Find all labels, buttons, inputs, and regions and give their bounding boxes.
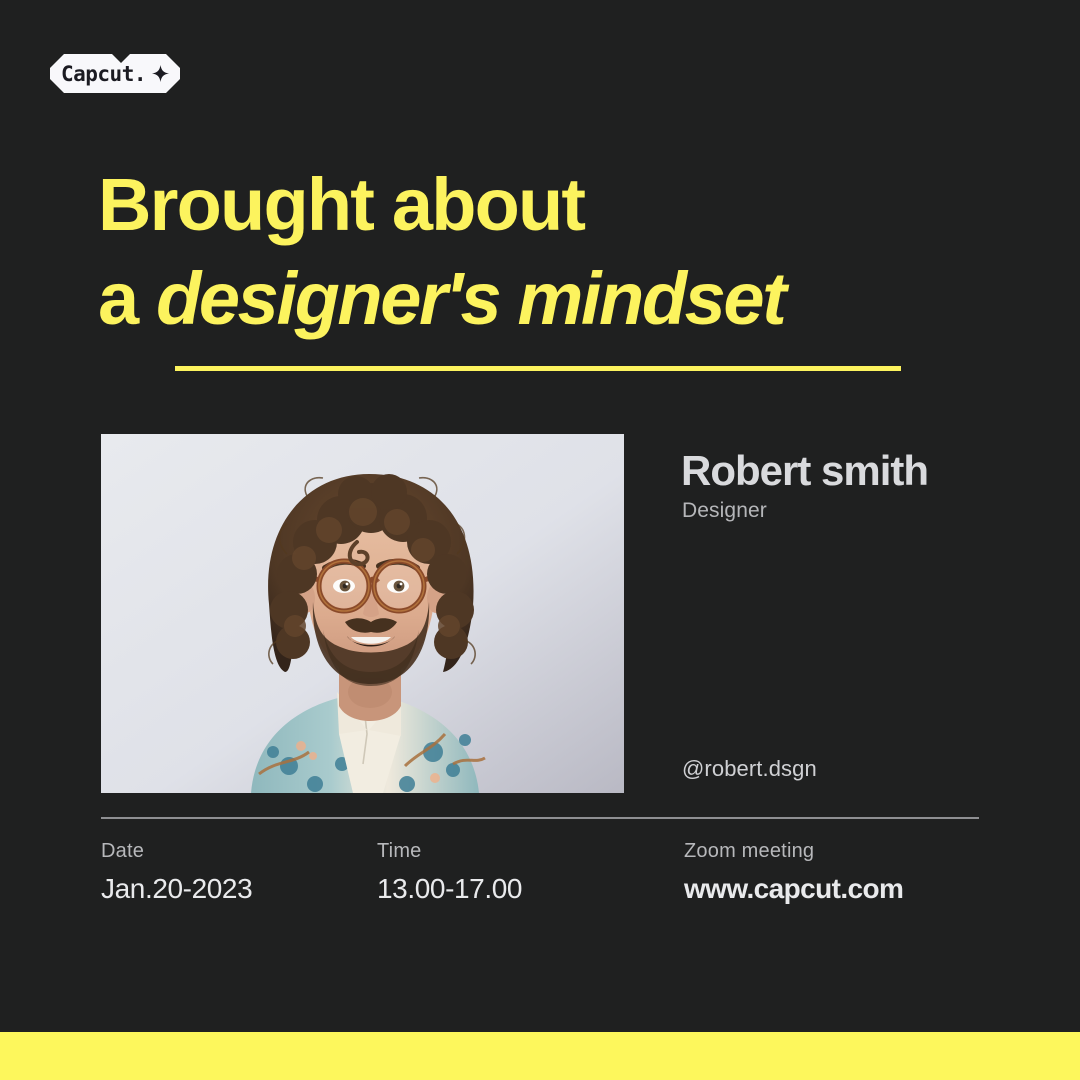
info-label: Time [377, 841, 684, 861]
capcut-logo-badge[interactable]: Capcut. [50, 54, 180, 93]
headline-underline-rule [175, 366, 901, 371]
speaker-photo-illustration [101, 434, 624, 793]
headline-line-2: a designer's mindset [98, 262, 978, 336]
headline-line-1: Brought about [98, 168, 978, 242]
four-point-star-icon [152, 65, 169, 82]
info-column-time: Time 13.00-17.00 [377, 841, 684, 903]
speaker-role: Designer [682, 499, 767, 523]
speaker-name: Robert smith [681, 448, 928, 494]
bottom-accent-bar [0, 1032, 1080, 1080]
info-value: 13.00-17.00 [377, 875, 684, 903]
info-column-zoom-meeting: Zoom meeting www.capcut.com [684, 841, 981, 903]
info-value: Jan.20-2023 [101, 875, 377, 903]
info-value-link[interactable]: www.capcut.com [684, 875, 981, 903]
speaker-photo [101, 434, 624, 793]
headline-prefix: a [98, 257, 156, 340]
speaker-social-handle[interactable]: @robert.dsgn [682, 756, 817, 782]
headline: Brought about a designer's mindset [98, 168, 978, 336]
info-label: Date [101, 841, 377, 861]
info-column-date: Date Jan.20-2023 [101, 841, 377, 903]
section-divider [101, 817, 979, 819]
event-info-row: Date Jan.20-2023 Time 13.00-17.00 Zoom m… [101, 841, 981, 903]
info-label: Zoom meeting [684, 841, 981, 861]
headline-emphasis: designer's mindset [156, 257, 784, 340]
capcut-logo-text: Capcut. [61, 62, 146, 85]
event-poster: Capcut. Brought about a designer's minds… [0, 0, 1080, 1080]
